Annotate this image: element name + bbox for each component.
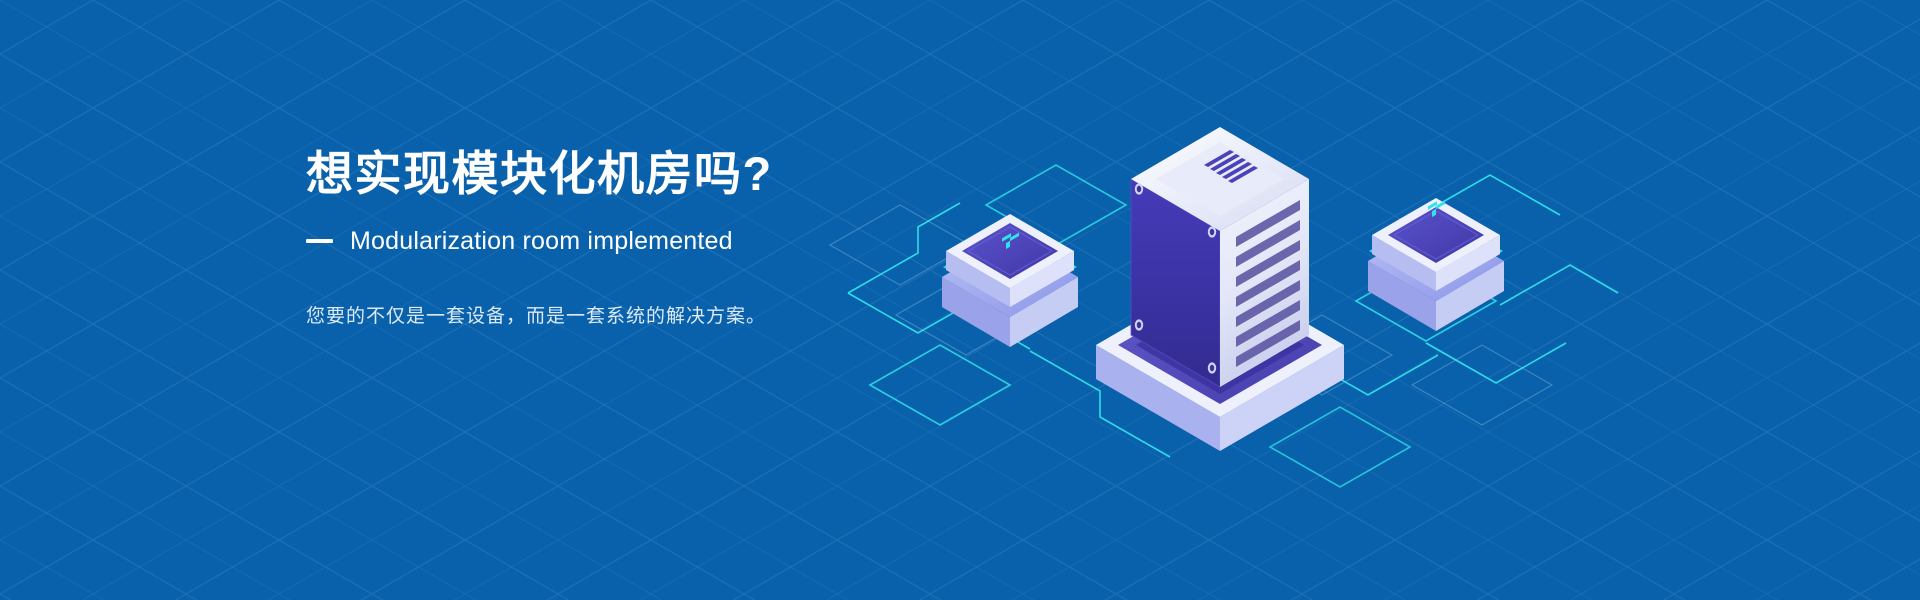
- chip-module-left: [942, 214, 1078, 347]
- isometric-data-center-illustration: [800, 55, 1620, 475]
- chip-module-right: [1368, 198, 1504, 331]
- server-tower: [1096, 127, 1344, 451]
- dash-icon: [306, 239, 333, 243]
- hero-banner: 想实现模块化机房吗? Modularization room implement…: [0, 0, 1920, 600]
- subtitle: Modularization room implemented: [350, 227, 733, 256]
